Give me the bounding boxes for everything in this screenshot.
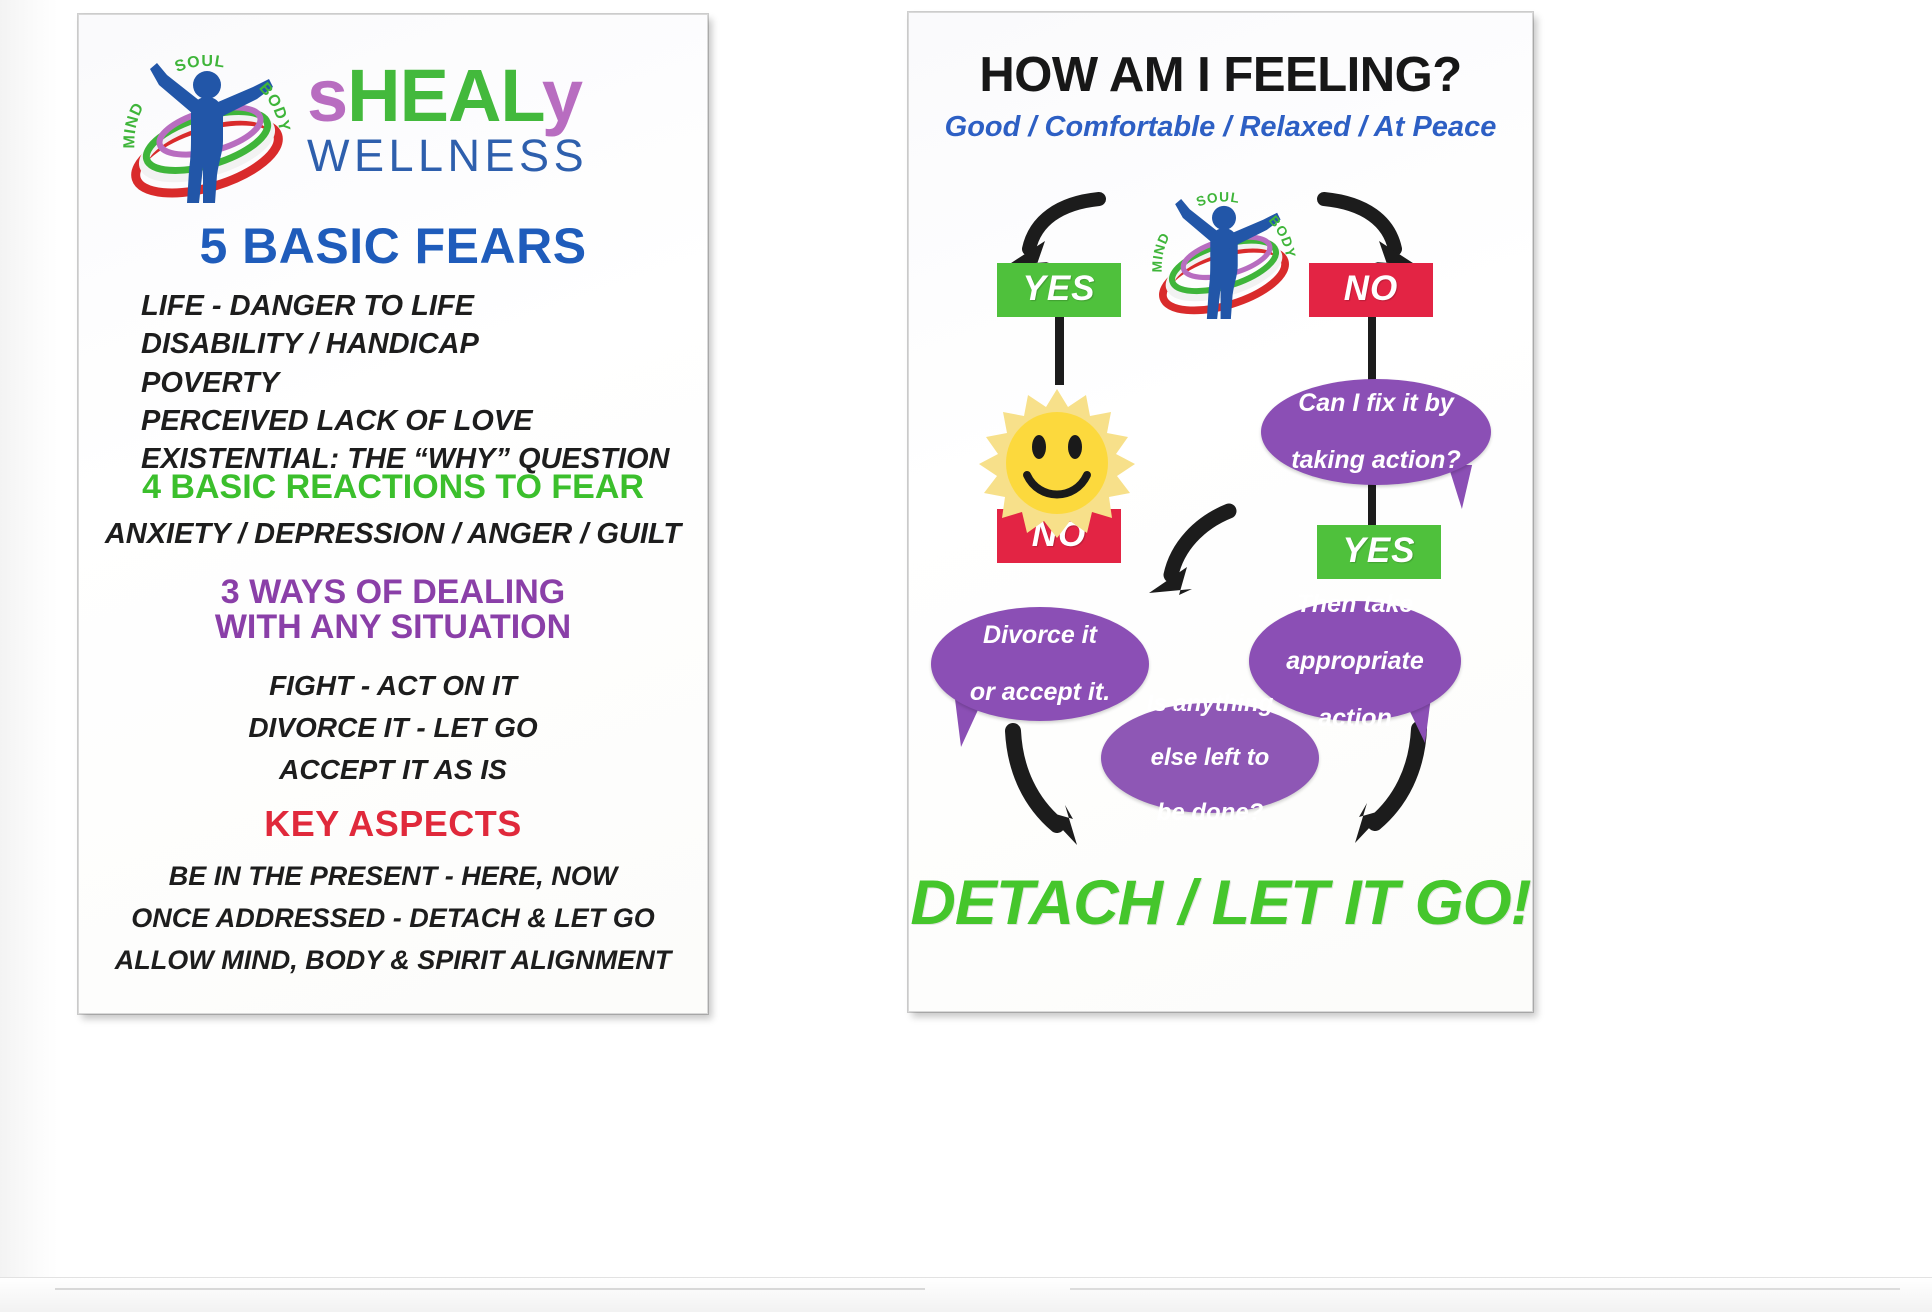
heading-line-2: WITH ANY SITUATION [79, 610, 707, 645]
brand-tagline: WELLNESS [307, 130, 707, 182]
list-item: ONCE ADDRESSED - DETACH & LET GO [79, 897, 707, 939]
list-item: ANXIETY / DEPRESSION / ANGER / GUILT [79, 515, 707, 553]
flow-tag-yes-2[interactable]: YES [1317, 525, 1441, 579]
list-item: LIFE - DANGER TO LIFE [141, 287, 708, 325]
heading-key-aspects: KEY ASPECTS [79, 805, 707, 842]
list-item: PERCEIVED LACK OF LOVE [141, 402, 708, 440]
arrow-detach-right [1355, 729, 1419, 843]
connector-yes-to-smiley [1055, 313, 1064, 385]
scan-left-margin [0, 0, 58, 1312]
flow-tag-no-1[interactable]: NO [1309, 263, 1433, 317]
bubble-line: Is anything [1135, 690, 1286, 717]
card-front: MIND SOUL BODY sHEALy WELLNESS 5 BASIC F… [78, 14, 708, 1014]
bubble-can-i-fix-it[interactable]: Can I fix it by taking action? [1261, 379, 1491, 485]
bubble-line: else left to [1135, 744, 1286, 771]
bubble-divorce-or-accept[interactable]: Divorce it or accept it. [931, 607, 1149, 721]
list-basic-fears: LIFE - DANGER TO LIFE DISABILITY / HANDI… [79, 287, 708, 478]
footer-detach-let-it-go: DETACH / LET IT GO! [909, 867, 1532, 939]
bubble-line: Can I fix it by [1279, 389, 1472, 418]
mind-soul-body-icon: MIND SOUL BODY [1134, 175, 1314, 325]
smiley-face-icon [967, 381, 1147, 541]
svg-text:SOUL: SOUL [1194, 190, 1241, 210]
scan-bottom-margin [0, 1277, 1932, 1312]
heading-5-basic-fears: 5 BASIC FEARS [79, 220, 707, 272]
mind-soul-body-icon: MIND SOUL BODY [107, 35, 307, 210]
arrow-detach-left [1013, 731, 1077, 845]
flow-tag-yes-1[interactable]: YES [997, 263, 1121, 317]
list-basic-reactions: ANXIETY / DEPRESSION / ANGER / GUILT [79, 515, 707, 553]
heading-line-1: 3 WAYS OF DEALING [79, 575, 707, 610]
arrow-to-yes [1008, 199, 1099, 267]
card-back: HOW AM I FEELING? Good / Comfortable / R… [908, 12, 1533, 1012]
decision-flowchart: MIND SOUL BODY [909, 13, 1532, 1011]
brand-letters-heal: HEAL [347, 54, 542, 137]
list-key-aspects: BE IN THE PRESENT - HERE, NOW ONCE ADDRE… [79, 855, 707, 981]
list-item: DISABILITY / HANDICAP [141, 325, 708, 363]
scan-bottom-rule-left [55, 1288, 925, 1290]
svg-text:MIND: MIND [1150, 230, 1173, 272]
list-item: DIVORCE IT - LET GO [79, 707, 707, 749]
heading-4-basic-reactions: 4 BASIC REACTIONS TO FEAR [79, 470, 707, 505]
scan-bottom-rule-right [1070, 1288, 1900, 1290]
brand-letter-s: s [307, 54, 347, 137]
arrow-to-no [1324, 199, 1416, 267]
list-item: ACCEPT IT AS IS [79, 749, 707, 791]
brand-healy: sHEALy [307, 63, 707, 128]
bubble-line: or accept it. [958, 678, 1122, 707]
brand-wordmark: sHEALy WELLNESS [307, 63, 707, 182]
bubble-line: appropriate [1274, 647, 1436, 676]
arrow-to-divorce [1149, 511, 1229, 595]
list-item: ALLOW MIND, BODY & SPIRIT ALIGNMENT [79, 939, 707, 981]
bubble-line: be done? [1135, 799, 1286, 826]
bubble-is-anything-else-left[interactable]: Is anything else left to be done? [1101, 703, 1319, 813]
list-item: POVERTY [141, 364, 708, 402]
brand-letter-y: y [542, 54, 582, 137]
svg-text:MIND: MIND [121, 100, 147, 149]
svg-text:SOUL: SOUL [173, 53, 227, 76]
brand-logo: MIND SOUL BODY sHEALy WELLNESS [79, 33, 707, 208]
card-front-body: MIND SOUL BODY sHEALy WELLNESS 5 BASIC F… [78, 14, 708, 1014]
list-item: BE IN THE PRESENT - HERE, NOW [79, 855, 707, 897]
card-back-body: HOW AM I FEELING? Good / Comfortable / R… [908, 12, 1533, 1012]
bubble-line: taking action? [1279, 446, 1472, 475]
list-item: FIGHT - ACT ON IT [79, 665, 707, 707]
bubble-line: Then take [1274, 590, 1436, 619]
bubble-line: Divorce it [958, 621, 1122, 650]
list-ways-of-dealing: FIGHT - ACT ON IT DIVORCE IT - LET GO AC… [79, 665, 707, 791]
heading-3-ways-of-dealing: 3 WAYS OF DEALING WITH ANY SITUATION [79, 575, 707, 646]
